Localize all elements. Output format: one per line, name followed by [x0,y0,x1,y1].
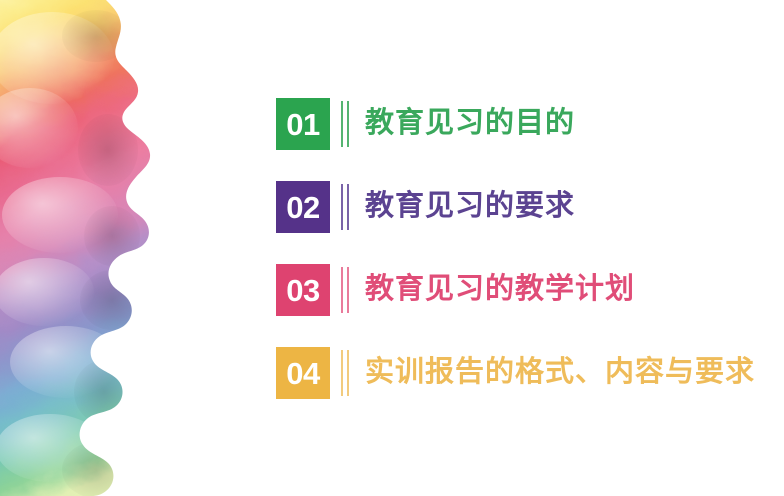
agenda-item-02[interactable]: 02 教育见习的要求 [276,179,776,235]
agenda-item-04[interactable]: 04 实训报告的格式、内容与要求 [276,345,776,401]
divider-rule-line [347,350,349,396]
agenda-number-badge-04: 04 [276,347,330,399]
divider-rule-line [341,101,343,147]
divider-rule-line [341,184,343,230]
divider-rules-03 [341,267,349,313]
divider-rule-line [347,267,349,313]
divider-rule-line [341,350,343,396]
watercolor-svg [0,0,200,496]
watercolor-body [0,0,200,496]
divider-rule-line [341,267,343,313]
agenda-item-01[interactable]: 01 教育见习的目的 [276,96,776,152]
divider-rule-line [347,184,349,230]
divider-rules-04 [341,350,349,396]
agenda-number-badge-01: 01 [276,98,330,150]
agenda-label-01: 教育见习的目的 [365,108,776,140]
agenda-item-03[interactable]: 03 教育见习的教学计划 [276,262,776,318]
agenda-number-badge-03: 03 [276,264,330,316]
agenda-label-02: 教育见习的要求 [365,191,776,223]
divider-rule-line [347,101,349,147]
agenda-list: 01 教育见习的目的 02 教育见习的要求 03 教育见习的教学计划 [276,96,776,401]
watercolor-decoration [0,0,200,496]
divider-rules-02 [341,184,349,230]
slide-canvas: 01 教育见习的目的 02 教育见习的要求 03 教育见习的教学计划 [0,0,784,496]
agenda-label-04: 实训报告的格式、内容与要求 [365,357,776,389]
agenda-label-03: 教育见习的教学计划 [365,274,776,306]
agenda-number-badge-02: 02 [276,181,330,233]
divider-rules-01 [341,101,349,147]
